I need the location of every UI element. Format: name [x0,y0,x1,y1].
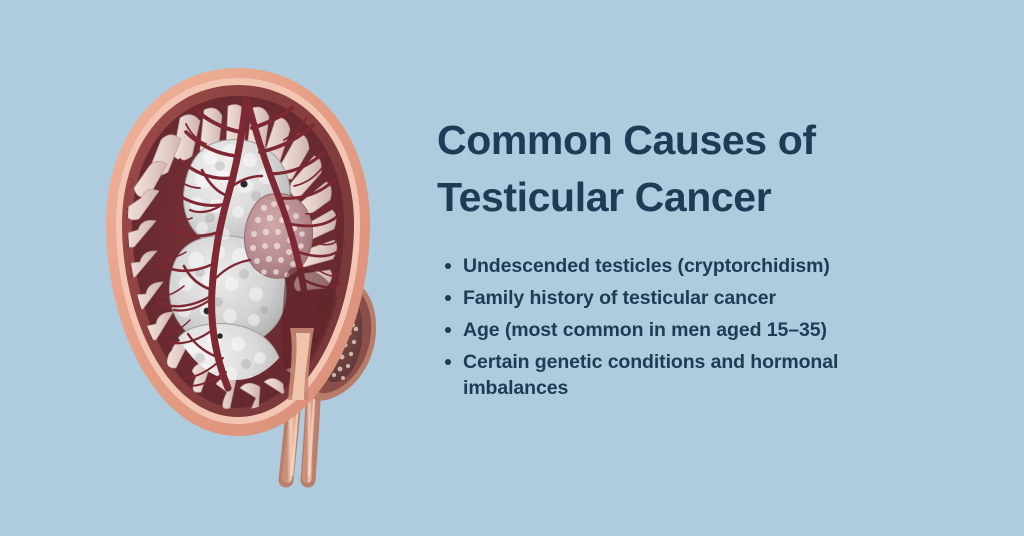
list-item: Undescended testicles (cryptorchidism) [437,253,933,280]
lobule-punctum [217,333,223,339]
bullet-icon [445,359,451,365]
list-item-label: Certain genetic conditions and hormonal … [463,351,838,400]
testicle-illustration [60,28,420,498]
list-item-label: Family history of testicular cancer [463,287,776,309]
causes-list: Undescended testicles (cryptorchidism) F… [437,253,957,403]
bullet-icon [445,263,451,269]
infographic-canvas: Common Causes ofTesticular Cancer Undesc… [0,0,1024,536]
list-item: Family history of testicular cancer [437,285,933,312]
page-title: Common Causes ofTesticular Cancer [437,112,957,227]
page-title-line-1: Common Causes of [437,117,816,163]
list-item: Age (most common in men aged 15–35) [437,317,933,344]
bullet-icon [445,327,451,333]
text-content-column: Common Causes ofTesticular Cancer Undesc… [437,112,957,407]
bullet-icon [445,295,451,301]
list-item-label: Undescended testicles (cryptorchidism) [463,255,830,277]
page-title-line-2: Testicular Cancer [437,174,771,220]
list-item-label: Age (most common in men aged 15–35) [463,319,827,341]
list-item: Certain genetic conditions and hormonal … [437,349,933,403]
